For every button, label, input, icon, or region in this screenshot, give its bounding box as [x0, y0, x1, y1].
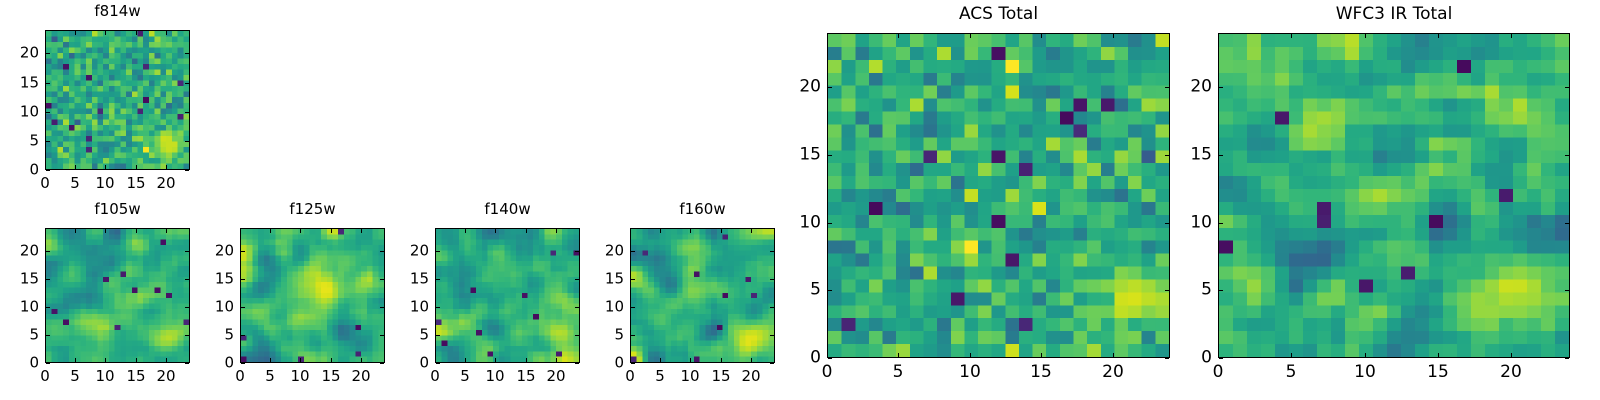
y-ticklabel-acs-total-20: 20 — [779, 79, 821, 96]
x-tick-top-f125w-0 — [240, 229, 241, 233]
x-tick-f105w-10 — [105, 358, 106, 362]
y-tick-right-acs-total-20 — [1165, 87, 1169, 88]
y-ticklabel-f814w-0: 0 — [0, 163, 39, 178]
x-tick-top-wfc3-ir-total-20 — [1511, 34, 1512, 38]
y-tick-right-wfc3-ir-total-15 — [1565, 155, 1569, 156]
y-tick-wfc3-ir-total-20 — [1219, 87, 1223, 88]
y-tick-f105w-0 — [46, 363, 50, 364]
y-tick-f160w-5 — [631, 335, 635, 336]
y-tick-acs-total-20 — [828, 87, 832, 88]
x-ticklabel-acs-total-5: 5 — [893, 364, 904, 381]
y-tick-right-f105w-15 — [185, 279, 189, 280]
y-tick-f814w-10 — [46, 112, 50, 113]
x-tick-top-acs-total-5 — [898, 34, 899, 38]
y-ticklabel-acs-total-0: 0 — [779, 350, 821, 367]
y-tick-wfc3-ir-total-5 — [1219, 290, 1223, 291]
x-ticklabel-f140w-20: 20 — [546, 369, 565, 384]
x-tick-top-f814w-15 — [136, 31, 137, 35]
panel-title-f105w: f105w — [45, 202, 190, 217]
x-ticklabel-f140w-0: 0 — [430, 369, 440, 384]
y-tick-right-f105w-10 — [185, 307, 189, 308]
y-ticklabel-f125w-5: 5 — [192, 328, 234, 343]
x-tick-f125w-0 — [240, 358, 241, 362]
y-tick-acs-total-5 — [828, 290, 832, 291]
x-ticklabel-f160w-0: 0 — [625, 369, 635, 384]
x-tick-acs-total-15 — [1041, 353, 1042, 357]
x-tick-top-f125w-20 — [361, 229, 362, 233]
y-tick-acs-total-10 — [828, 223, 832, 224]
x-tick-top-f160w-15 — [721, 229, 722, 233]
x-tick-top-f160w-0 — [630, 229, 631, 233]
heatmap-f140w — [435, 228, 580, 363]
y-tick-f125w-10 — [241, 307, 245, 308]
y-ticklabel-f105w-0: 0 — [0, 356, 39, 371]
y-tick-right-f105w-0 — [185, 363, 189, 364]
y-ticklabel-f140w-5: 5 — [387, 328, 429, 343]
y-tick-wfc3-ir-total-0 — [1219, 358, 1223, 359]
x-tick-top-f814w-20 — [166, 31, 167, 35]
x-ticklabel-f125w-10: 10 — [290, 369, 309, 384]
x-tick-acs-total-10 — [970, 353, 971, 357]
x-tick-top-f160w-20 — [751, 229, 752, 233]
x-tick-top-f105w-5 — [75, 229, 76, 233]
y-tick-right-wfc3-ir-total-5 — [1565, 290, 1569, 291]
x-tick-f814w-0 — [45, 165, 46, 169]
heatmap-acs-total — [827, 33, 1170, 358]
x-ticklabel-f105w-15: 15 — [126, 369, 145, 384]
x-ticklabel-wfc3-ir-total-0: 0 — [1213, 364, 1224, 381]
y-tick-acs-total-15 — [828, 155, 832, 156]
x-ticklabel-f160w-15: 15 — [711, 369, 730, 384]
y-tick-f105w-5 — [46, 335, 50, 336]
panel-title-f814w: f814w — [45, 4, 190, 19]
y-ticklabel-f140w-15: 15 — [387, 272, 429, 287]
y-tick-right-f140w-0 — [575, 363, 579, 364]
y-ticklabel-f105w-10: 10 — [0, 300, 39, 315]
x-tick-top-wfc3-ir-total-0 — [1218, 34, 1219, 38]
heatmap-canvas-wfc3-ir-total — [1219, 34, 1569, 357]
y-tick-wfc3-ir-total-15 — [1219, 155, 1223, 156]
y-tick-f140w-20 — [436, 251, 440, 252]
y-tick-right-f125w-0 — [380, 363, 384, 364]
x-ticklabel-f105w-0: 0 — [40, 369, 50, 384]
y-tick-right-f814w-0 — [185, 170, 189, 171]
panel-title-f160w: f160w — [630, 202, 775, 217]
x-tick-f125w-20 — [361, 358, 362, 362]
x-ticklabel-f140w-5: 5 — [460, 369, 470, 384]
y-tick-f814w-20 — [46, 53, 50, 54]
x-tick-wfc3-ir-total-20 — [1511, 353, 1512, 357]
y-tick-right-acs-total-15 — [1165, 155, 1169, 156]
x-tick-top-wfc3-ir-total-10 — [1365, 34, 1366, 38]
x-tick-top-f160w-5 — [660, 229, 661, 233]
x-ticklabel-wfc3-ir-total-15: 15 — [1427, 364, 1449, 381]
panel-f814w: f814w0510152005101520 — [0, 0, 1600, 400]
x-tick-top-acs-total-0 — [827, 34, 828, 38]
x-ticklabel-f160w-5: 5 — [655, 369, 665, 384]
x-tick-top-f105w-15 — [136, 229, 137, 233]
x-tick-top-wfc3-ir-total-15 — [1438, 34, 1439, 38]
y-ticklabel-f814w-5: 5 — [0, 134, 39, 149]
y-ticklabel-acs-total-15: 15 — [779, 147, 821, 164]
y-ticklabel-acs-total-5: 5 — [779, 282, 821, 299]
x-tick-f125w-15 — [331, 358, 332, 362]
y-ticklabel-f814w-20: 20 — [0, 46, 39, 61]
x-tick-top-acs-total-10 — [970, 34, 971, 38]
panel-wfc3-ir-total: WFC3 IR Total0510152005101520 — [0, 0, 1600, 400]
y-tick-right-acs-total-0 — [1165, 358, 1169, 359]
y-ticklabel-f140w-0: 0 — [387, 356, 429, 371]
x-tick-top-f140w-0 — [435, 229, 436, 233]
x-ticklabel-f814w-0: 0 — [40, 176, 50, 191]
x-tick-top-f814w-5 — [75, 31, 76, 35]
x-ticklabel-f160w-20: 20 — [741, 369, 760, 384]
x-ticklabel-f140w-10: 10 — [485, 369, 504, 384]
x-tick-top-f125w-10 — [300, 229, 301, 233]
y-tick-f125w-5 — [241, 335, 245, 336]
x-ticklabel-acs-total-15: 15 — [1030, 364, 1052, 381]
x-ticklabel-f105w-20: 20 — [156, 369, 175, 384]
y-tick-right-f160w-20 — [770, 251, 774, 252]
x-tick-f160w-5 — [660, 358, 661, 362]
x-tick-wfc3-ir-total-5 — [1291, 353, 1292, 357]
y-tick-f125w-20 — [241, 251, 245, 252]
x-tick-top-f140w-15 — [526, 229, 527, 233]
x-ticklabel-acs-total-0: 0 — [822, 364, 833, 381]
x-tick-f105w-5 — [75, 358, 76, 362]
x-ticklabel-f125w-0: 0 — [235, 369, 245, 384]
heatmap-f814w — [45, 30, 190, 170]
x-tick-acs-total-0 — [827, 353, 828, 357]
y-tick-right-f140w-20 — [575, 251, 579, 252]
x-tick-top-f140w-20 — [556, 229, 557, 233]
heatmap-f105w — [45, 228, 190, 363]
x-tick-f125w-10 — [300, 358, 301, 362]
y-tick-right-acs-total-10 — [1165, 223, 1169, 224]
x-tick-f814w-5 — [75, 165, 76, 169]
x-tick-top-f125w-5 — [270, 229, 271, 233]
x-tick-top-f105w-20 — [166, 229, 167, 233]
heatmap-canvas-acs-total — [828, 34, 1169, 357]
x-tick-top-f140w-5 — [465, 229, 466, 233]
x-tick-wfc3-ir-total-0 — [1218, 353, 1219, 357]
heatmap-canvas-f105w — [46, 229, 189, 362]
y-ticklabel-f125w-20: 20 — [192, 244, 234, 259]
x-tick-f814w-20 — [166, 165, 167, 169]
x-ticklabel-f125w-15: 15 — [321, 369, 340, 384]
panel-title-acs-total: ACS Total — [827, 6, 1170, 23]
figure-canvas: f814w0510152005101520f105w05101520051015… — [0, 0, 1600, 400]
y-tick-right-f140w-5 — [575, 335, 579, 336]
x-ticklabel-f140w-15: 15 — [516, 369, 535, 384]
x-tick-wfc3-ir-total-10 — [1365, 353, 1366, 357]
y-tick-f814w-15 — [46, 83, 50, 84]
y-ticklabel-acs-total-10: 10 — [779, 215, 821, 232]
x-tick-f160w-20 — [751, 358, 752, 362]
y-tick-right-f814w-10 — [185, 112, 189, 113]
y-ticklabel-f160w-20: 20 — [582, 244, 624, 259]
heatmap-canvas-f160w — [631, 229, 774, 362]
x-tick-acs-total-20 — [1113, 353, 1114, 357]
heatmap-f160w — [630, 228, 775, 363]
x-tick-f140w-0 — [435, 358, 436, 362]
x-ticklabel-f814w-15: 15 — [126, 176, 145, 191]
x-tick-f105w-0 — [45, 358, 46, 362]
y-tick-f140w-5 — [436, 335, 440, 336]
y-tick-f814w-5 — [46, 141, 50, 142]
y-tick-f105w-15 — [46, 279, 50, 280]
y-ticklabel-f125w-15: 15 — [192, 272, 234, 287]
y-tick-f125w-0 — [241, 363, 245, 364]
x-ticklabel-acs-total-20: 20 — [1102, 364, 1124, 381]
panel-title-wfc3-ir-total: WFC3 IR Total — [1218, 6, 1570, 23]
y-ticklabel-wfc3-ir-total-15: 15 — [1170, 147, 1212, 164]
x-tick-f814w-10 — [105, 165, 106, 169]
x-tick-f160w-0 — [630, 358, 631, 362]
y-ticklabel-f160w-5: 5 — [582, 328, 624, 343]
panel-f140w: f140w0510152005101520 — [0, 0, 1600, 400]
y-tick-right-f125w-20 — [380, 251, 384, 252]
y-tick-f160w-20 — [631, 251, 635, 252]
y-tick-right-f160w-5 — [770, 335, 774, 336]
x-ticklabel-f814w-10: 10 — [95, 176, 114, 191]
x-ticklabel-f160w-10: 10 — [680, 369, 699, 384]
x-tick-f160w-10 — [690, 358, 691, 362]
y-tick-right-f105w-5 — [185, 335, 189, 336]
y-ticklabel-wfc3-ir-total-5: 5 — [1170, 282, 1212, 299]
y-tick-right-f105w-20 — [185, 251, 189, 252]
x-tick-top-wfc3-ir-total-5 — [1291, 34, 1292, 38]
heatmap-canvas-f125w — [241, 229, 384, 362]
y-tick-right-wfc3-ir-total-10 — [1565, 223, 1569, 224]
x-ticklabel-wfc3-ir-total-20: 20 — [1500, 364, 1522, 381]
panel-title-f140w: f140w — [435, 202, 580, 217]
y-tick-right-f160w-0 — [770, 363, 774, 364]
y-tick-right-f160w-10 — [770, 307, 774, 308]
y-ticklabel-f105w-20: 20 — [0, 244, 39, 259]
panel-f125w: f125w0510152005101520 — [0, 0, 1600, 400]
x-ticklabel-wfc3-ir-total-10: 10 — [1354, 364, 1376, 381]
x-tick-top-f140w-10 — [495, 229, 496, 233]
y-tick-f140w-10 — [436, 307, 440, 308]
x-tick-top-f814w-10 — [105, 31, 106, 35]
y-tick-right-acs-total-5 — [1165, 290, 1169, 291]
y-tick-right-wfc3-ir-total-0 — [1565, 358, 1569, 359]
x-ticklabel-f105w-10: 10 — [95, 369, 114, 384]
y-ticklabel-f125w-10: 10 — [192, 300, 234, 315]
x-ticklabel-f814w-5: 5 — [70, 176, 80, 191]
x-tick-f105w-15 — [136, 358, 137, 362]
x-tick-f814w-15 — [136, 165, 137, 169]
panel-f160w: f160w0510152005101520 — [0, 0, 1600, 400]
y-tick-f814w-0 — [46, 170, 50, 171]
x-tick-f105w-20 — [166, 358, 167, 362]
x-tick-f140w-20 — [556, 358, 557, 362]
x-tick-f125w-5 — [270, 358, 271, 362]
x-ticklabel-f125w-20: 20 — [351, 369, 370, 384]
x-tick-top-acs-total-15 — [1041, 34, 1042, 38]
y-tick-wfc3-ir-total-10 — [1219, 223, 1223, 224]
x-ticklabel-acs-total-10: 10 — [959, 364, 981, 381]
x-ticklabel-f105w-5: 5 — [70, 369, 80, 384]
y-ticklabel-f160w-0: 0 — [582, 356, 624, 371]
y-ticklabel-f160w-15: 15 — [582, 272, 624, 287]
heatmap-f125w — [240, 228, 385, 363]
y-tick-right-f125w-15 — [380, 279, 384, 280]
x-ticklabel-wfc3-ir-total-5: 5 — [1286, 364, 1297, 381]
x-tick-top-f814w-0 — [45, 31, 46, 35]
y-ticklabel-f814w-15: 15 — [0, 76, 39, 91]
x-tick-acs-total-5 — [898, 353, 899, 357]
y-ticklabel-f105w-15: 15 — [0, 272, 39, 287]
y-tick-right-f125w-10 — [380, 307, 384, 308]
x-ticklabel-f125w-5: 5 — [265, 369, 275, 384]
heatmap-canvas-f140w — [436, 229, 579, 362]
y-tick-right-f814w-20 — [185, 53, 189, 54]
y-tick-right-f160w-15 — [770, 279, 774, 280]
x-tick-top-f105w-10 — [105, 229, 106, 233]
x-tick-f140w-15 — [526, 358, 527, 362]
y-tick-right-wfc3-ir-total-20 — [1565, 87, 1569, 88]
y-ticklabel-f125w-0: 0 — [192, 356, 234, 371]
x-tick-top-f125w-15 — [331, 229, 332, 233]
y-tick-f105w-10 — [46, 307, 50, 308]
y-tick-f160w-10 — [631, 307, 635, 308]
y-tick-f140w-15 — [436, 279, 440, 280]
y-ticklabel-f814w-10: 10 — [0, 105, 39, 120]
x-ticklabel-f814w-20: 20 — [156, 176, 175, 191]
panel-f105w: f105w0510152005101520 — [0, 0, 1600, 400]
y-tick-right-f140w-15 — [575, 279, 579, 280]
y-ticklabel-wfc3-ir-total-10: 10 — [1170, 215, 1212, 232]
y-ticklabel-f140w-10: 10 — [387, 300, 429, 315]
x-tick-top-f160w-10 — [690, 229, 691, 233]
y-tick-acs-total-0 — [828, 358, 832, 359]
x-tick-f140w-5 — [465, 358, 466, 362]
y-tick-right-f814w-15 — [185, 83, 189, 84]
heatmap-wfc3-ir-total — [1218, 33, 1570, 358]
x-tick-top-f105w-0 — [45, 229, 46, 233]
y-ticklabel-f140w-20: 20 — [387, 244, 429, 259]
y-tick-f160w-15 — [631, 279, 635, 280]
heatmap-canvas-f814w — [46, 31, 189, 169]
y-tick-f160w-0 — [631, 363, 635, 364]
y-tick-f105w-20 — [46, 251, 50, 252]
panel-title-f125w: f125w — [240, 202, 385, 217]
y-tick-right-f814w-5 — [185, 141, 189, 142]
y-ticklabel-f105w-5: 5 — [0, 328, 39, 343]
y-ticklabel-f160w-10: 10 — [582, 300, 624, 315]
panel-acs-total: ACS Total0510152005101520 — [0, 0, 1600, 400]
y-ticklabel-wfc3-ir-total-0: 0 — [1170, 350, 1212, 367]
y-tick-f125w-15 — [241, 279, 245, 280]
x-tick-f160w-15 — [721, 358, 722, 362]
y-ticklabel-wfc3-ir-total-20: 20 — [1170, 79, 1212, 96]
y-tick-f140w-0 — [436, 363, 440, 364]
x-tick-wfc3-ir-total-15 — [1438, 353, 1439, 357]
x-tick-f140w-10 — [495, 358, 496, 362]
y-tick-right-f125w-5 — [380, 335, 384, 336]
x-tick-top-acs-total-20 — [1113, 34, 1114, 38]
y-tick-right-f140w-10 — [575, 307, 579, 308]
